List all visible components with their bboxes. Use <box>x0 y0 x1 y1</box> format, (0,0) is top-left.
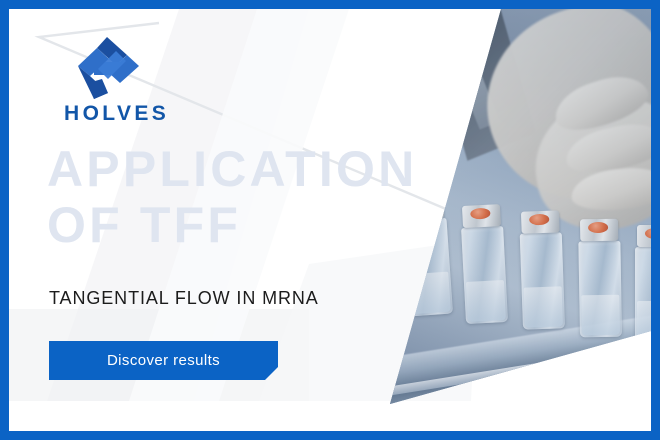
headline-line-1: APPLICATION <box>47 141 417 197</box>
photo-tint-overlay <box>339 9 651 431</box>
page-title: APPLICATIONOF TFF <box>47 141 417 253</box>
banner-canvas: APPLICATIONOF TFF HOLVES TANGENTIAL FLOW… <box>9 9 651 431</box>
cta-label: Discover results <box>107 352 220 369</box>
banner-subtitle: TANGENTIAL FLOW IN MRNA <box>49 288 319 309</box>
frame-border-bottom <box>0 431 660 440</box>
holves-diamond-h-logo-icon <box>64 35 150 101</box>
brand-logo[interactable]: HOLVES <box>64 35 169 126</box>
brand-wordmark: HOLVES <box>64 102 169 126</box>
glass-vial-icon <box>346 203 398 324</box>
frame-border-right <box>651 0 660 440</box>
headline-line-2: OF TFF <box>47 197 417 253</box>
promo-banner: APPLICATIONOF TFF HOLVES TANGENTIAL FLOW… <box>0 0 660 440</box>
frame-border-top <box>0 0 660 9</box>
lab-photo-image <box>339 9 651 431</box>
frame-border-left <box>0 0 9 440</box>
discover-results-button[interactable]: Discover results <box>49 341 278 382</box>
